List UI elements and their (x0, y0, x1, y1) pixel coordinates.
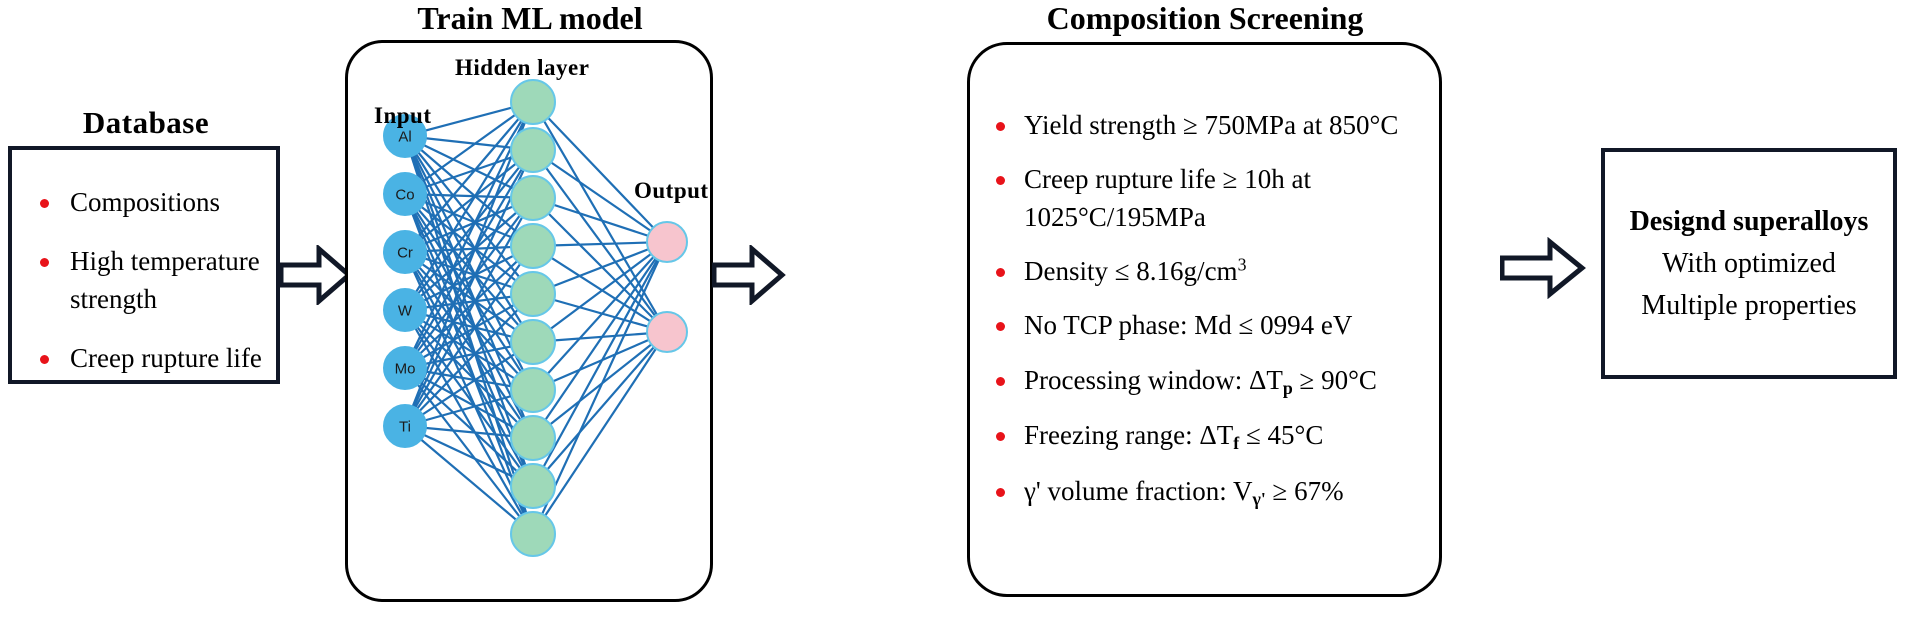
right-arrow-icon (1500, 237, 1586, 299)
database-bullet-label: Creep rupture life (70, 343, 262, 373)
composition-screening-box: Yield strength ≥ 750MPa at 850°CCreep ru… (967, 42, 1442, 597)
database-box: Compositions High temperature strength C… (8, 146, 280, 384)
database-bullet-creep-rupture-life: Creep rupture life (32, 340, 282, 377)
nn-input-node-label: Co (395, 187, 414, 204)
nn-input-node-label: Mo (395, 361, 416, 378)
right-arrow-icon (712, 245, 786, 305)
database-bullet-label: High temperature strength (70, 246, 260, 313)
screening-bullet-label: No TCP phase: Md ≤ 0994 eV (1024, 310, 1352, 340)
screening-bullet-continuation: 1025°C/195MPa (1024, 199, 1434, 236)
bullet-dot-icon (40, 355, 49, 364)
nn-hidden-node (511, 176, 555, 220)
subscript: p (1283, 378, 1293, 398)
screening-bullet-no-tcp-phase: No TCP phase: Md ≤ 0994 eV (982, 307, 1434, 344)
nn-hidden-node (511, 320, 555, 364)
bullet-dot-icon (996, 122, 1005, 131)
nn-input-node-label: Ti (399, 419, 411, 436)
bullet-dot-icon (996, 268, 1005, 277)
ml-model-title: Train ML model (345, 0, 715, 37)
nn-output-node (647, 222, 687, 262)
screening-bullet-label: Creep rupture life ≥ 10h at (1024, 164, 1311, 194)
nn-hidden-node (511, 464, 555, 508)
nn-output-label: Output (634, 178, 709, 204)
nn-hidden-node (511, 416, 555, 460)
screening-bullet-creep-rupture-life: Creep rupture life ≥ 10h at1025°C/195MPa (982, 161, 1434, 236)
bullet-dot-icon (996, 488, 1005, 497)
screening-bullet-label: γ' volume fraction: Vγ' ≥ 67% (1024, 476, 1344, 506)
database-bullet-compositions: Compositions (32, 184, 282, 221)
nn-hidden-node (511, 512, 555, 556)
nn-hidden-label: Hidden layer (455, 55, 589, 81)
bullet-dot-icon (996, 432, 1005, 441)
bullet-dot-icon (996, 377, 1005, 386)
nn-hidden-node (511, 224, 555, 268)
nn-input-node-label: Cr (397, 245, 413, 262)
designed-superalloys-box: Designd superalloys With optimized Multi… (1601, 148, 1897, 379)
nn-hidden-node (511, 80, 555, 124)
bullet-dot-icon (40, 258, 49, 267)
superscript: 3 (1238, 255, 1247, 275)
database-bullet-label: Compositions (70, 187, 220, 217)
bullet-dot-icon (40, 199, 49, 208)
screening-bullet-density: Density ≤ 8.16g/cm3 (982, 253, 1434, 291)
screening-bullet-freezing-range: Freezing range: ΔTf ≤ 45°C (982, 417, 1434, 456)
subscript: γ' (1253, 489, 1266, 509)
nn-input-label: Input (374, 103, 431, 129)
nn-hidden-node (511, 368, 555, 412)
screening-bullet-label: Yield strength ≥ 750MPa at 850°C (1024, 110, 1398, 140)
database-bullet-list: Compositions High temperature strength C… (32, 184, 282, 399)
database-bullet-high-temperature-strength: High temperature strength (32, 243, 282, 318)
screening-bullet-label: Freezing range: ΔTf ≤ 45°C (1024, 420, 1323, 450)
screening-bullet-label: Processing window: ΔTp ≥ 90°C (1024, 365, 1377, 395)
designed-superalloys-line2: With optimized (1662, 243, 1836, 285)
screening-bullet-processing-window: Processing window: ΔTp ≥ 90°C (982, 362, 1434, 401)
database-title: Database (0, 105, 292, 141)
right-arrow-icon (279, 245, 353, 305)
nn-hidden-node (511, 272, 555, 316)
nn-output-node (647, 312, 687, 352)
screening-bullet-label: Density ≤ 8.16g/cm3 (1024, 256, 1246, 286)
bullet-dot-icon (996, 176, 1005, 185)
nn-input-node-label: Al (398, 129, 411, 146)
composition-screening-title: Composition Screening (955, 0, 1455, 37)
nn-hidden-node (511, 128, 555, 172)
screening-bullet-gamma-prime-volume-fraction: γ' volume fraction: Vγ' ≥ 67% (982, 473, 1434, 512)
designed-superalloys-line1: Designd superalloys (1630, 201, 1869, 243)
designed-superalloys-line3: Multiple properties (1641, 285, 1856, 327)
nn-input-node-label: W (398, 303, 413, 320)
subscript: f (1233, 433, 1239, 453)
composition-screening-bullet-list: Yield strength ≥ 750MPa at 850°CCreep ru… (982, 107, 1434, 528)
diagram-canvas: Database Compositions High temperature s… (0, 0, 1905, 622)
screening-bullet-yield-strength: Yield strength ≥ 750MPa at 850°C (982, 107, 1434, 144)
bullet-dot-icon (996, 322, 1005, 331)
